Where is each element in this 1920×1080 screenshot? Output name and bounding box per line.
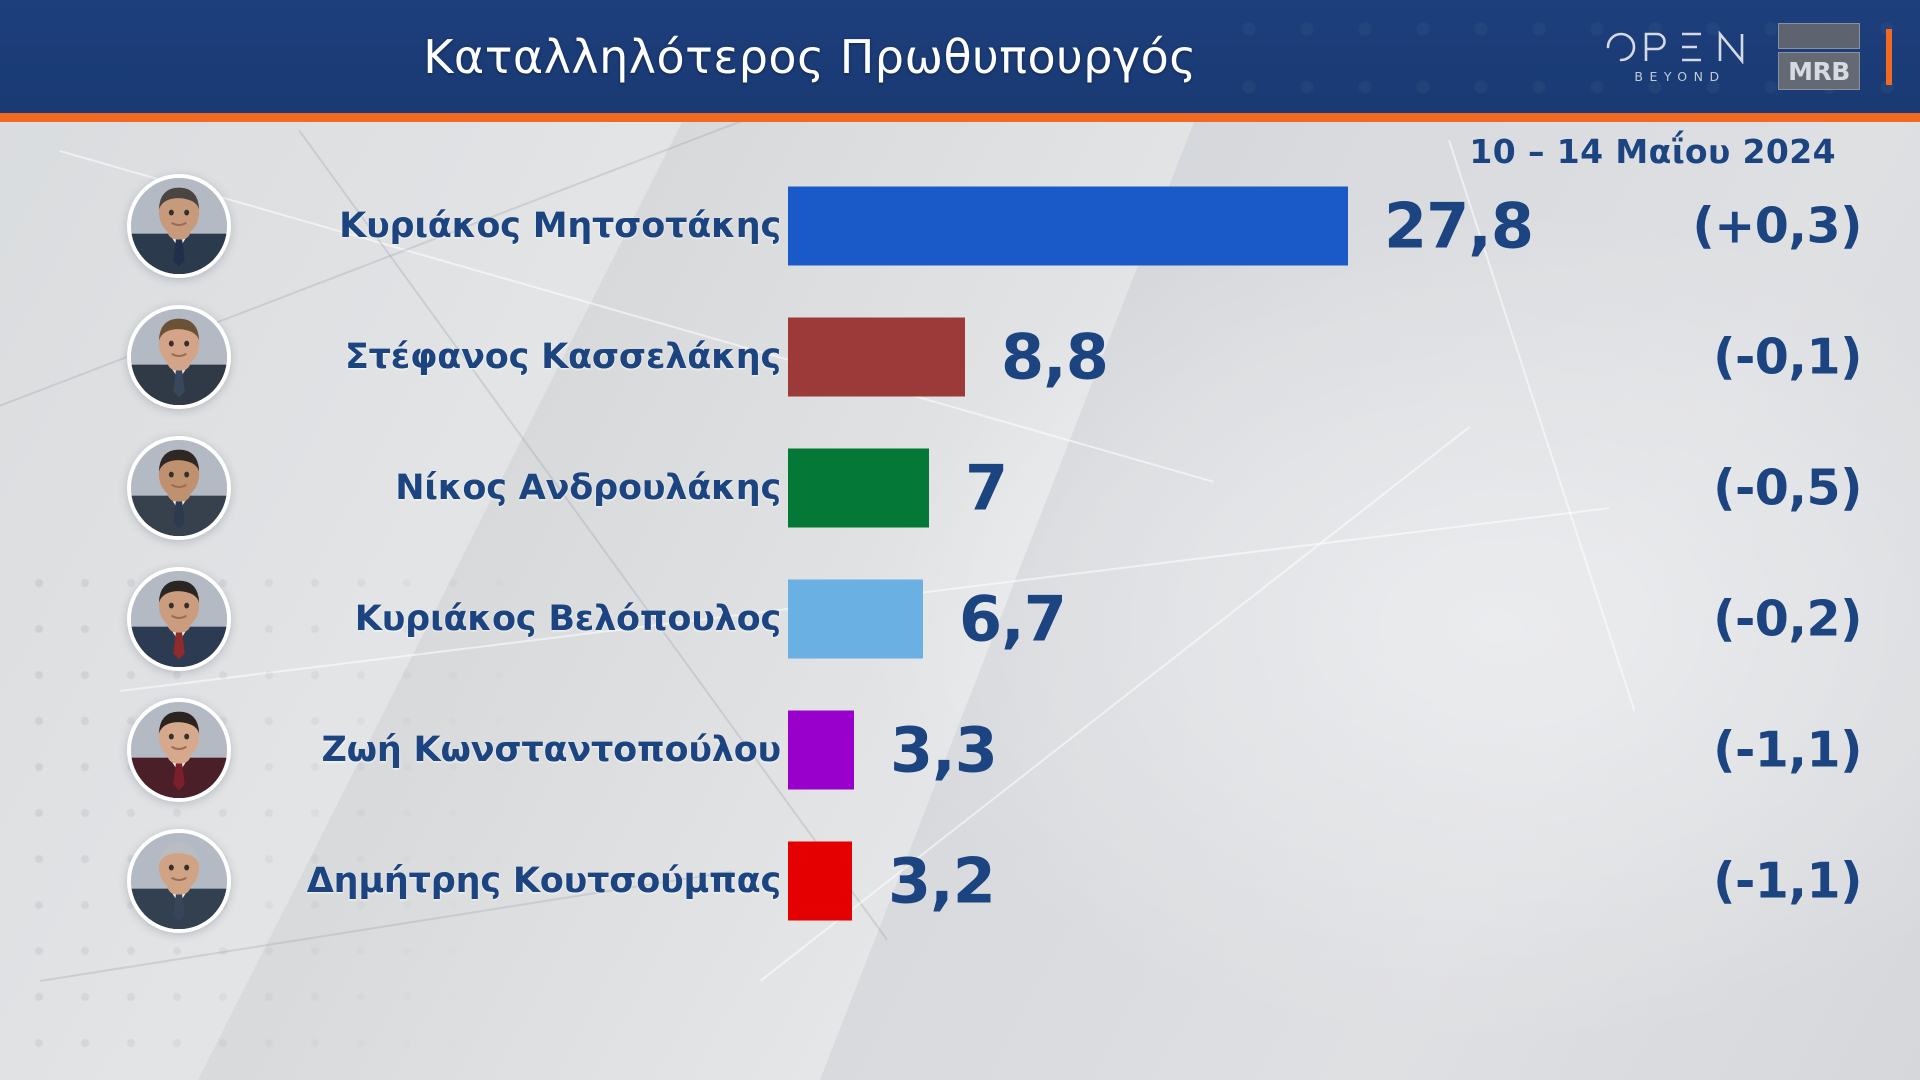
mrb-label: MRB <box>1778 52 1860 90</box>
portrait-icon <box>131 571 227 667</box>
candidate-avatar <box>127 305 231 409</box>
poll-row: Νίκος Ανδρουλάκης7(-0,5) <box>0 422 1920 553</box>
open-beyond-logo: BEYOND <box>1602 30 1752 84</box>
portrait-icon <box>131 440 227 536</box>
portrait-icon <box>131 309 227 405</box>
logo-group: BEYOND MRB <box>1602 0 1892 113</box>
poll-row: Ζωή Κωνσταντοπούλου3,3(-1,1) <box>0 684 1920 815</box>
orange-divider <box>0 113 1920 122</box>
poll-graphic: Καταλληλότερος Πρωθυπουργός BEYOND MRB <box>0 0 1920 1080</box>
poll-row: Στέφανος Κασσελάκης8,8(-0,1) <box>0 291 1920 422</box>
open-beyond-sub: BEYOND <box>1628 69 1725 84</box>
value-bar <box>788 448 929 527</box>
candidate-name: Κυριάκος Μητσοτάκης <box>339 206 781 246</box>
value-label: 8,8 <box>1001 320 1108 393</box>
candidate-name: Νίκος Ανδρουλάκης <box>395 468 781 508</box>
open-wordmark <box>1602 30 1752 64</box>
value-bar <box>788 841 852 920</box>
value-label: 3,2 <box>888 844 995 917</box>
value-label: 6,7 <box>959 582 1066 655</box>
candidate-avatar <box>127 567 231 671</box>
candidate-avatar <box>127 436 231 540</box>
change-label: (-0,2) <box>1713 590 1862 647</box>
portrait-icon <box>131 178 227 274</box>
portrait-icon <box>131 702 227 798</box>
candidate-name: Κυριάκος Βελόπουλος <box>355 599 781 639</box>
mrb-logo: MRB <box>1778 23 1860 90</box>
value-bar <box>788 186 1348 265</box>
change-label: (-0,1) <box>1713 328 1862 385</box>
open-letters-icon <box>1602 30 1752 64</box>
change-label: (-0,5) <box>1713 459 1862 516</box>
poll-row: Κυριάκος Βελόπουλος6,7(-0,2) <box>0 553 1920 684</box>
poll-row: Δημήτρης Κουτσούμπας3,2(-1,1) <box>0 815 1920 946</box>
candidate-avatar <box>127 698 231 802</box>
mrb-top-block <box>1778 23 1860 49</box>
candidate-avatar <box>127 174 231 278</box>
change-label: (+0,3) <box>1692 197 1862 254</box>
value-label: 27,8 <box>1384 189 1533 262</box>
portrait-icon <box>131 833 227 929</box>
poll-row: Κυριάκος Μητσοτάκης27,8(+0,3) <box>0 160 1920 291</box>
value-bar <box>788 579 923 658</box>
value-bar <box>788 317 965 396</box>
candidate-name: Στέφανος Κασσελάκης <box>345 337 781 377</box>
change-label: (-1,1) <box>1713 721 1862 778</box>
change-label: (-1,1) <box>1713 852 1862 909</box>
value-bar <box>788 710 854 789</box>
value-label: 3,3 <box>890 713 997 786</box>
candidate-name: Δημήτρης Κουτσούμπας <box>307 861 781 901</box>
candidate-avatar <box>127 829 231 933</box>
value-label: 7 <box>965 451 1007 524</box>
poll-rows: Κυριάκος Μητσοτάκης27,8(+0,3)Στέφανος Κα… <box>0 160 1920 946</box>
candidate-name: Ζωή Κωνσταντοπούλου <box>321 730 781 770</box>
header-bar: Καταλληλότερος Πρωθυπουργός BEYOND MRB <box>0 0 1920 113</box>
orange-accent-tick <box>1886 29 1892 85</box>
